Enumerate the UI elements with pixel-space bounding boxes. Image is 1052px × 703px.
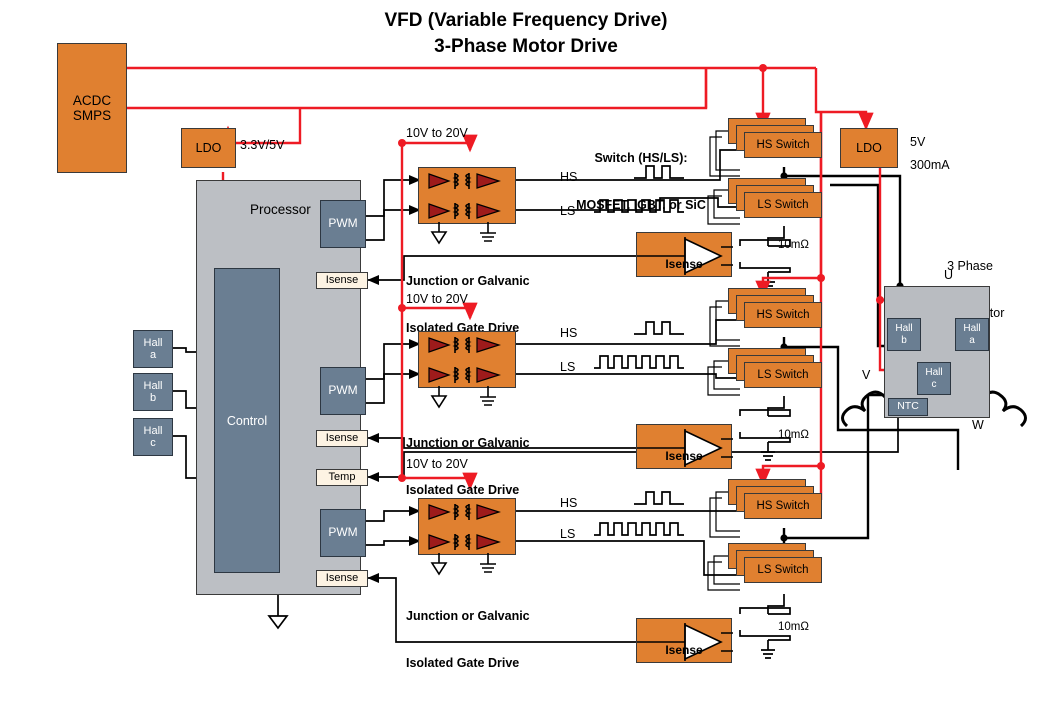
ldo-right-voltage-label: 5V [910,135,925,151]
motor-hall-c[interactable]: Hall c [917,362,951,395]
control-block[interactable]: Control [214,268,280,573]
title-line-1: VFD (Variable Frequency Drive) [0,8,1052,34]
phase-3-ls-label: LS [560,527,575,543]
motor-hall-a-line2: a [969,335,975,346]
motor-phase-w-label: W [972,418,984,434]
gate-drive-3-rail-label: 10V to 20V [406,457,468,473]
gate-drive-3-block[interactable] [418,498,516,555]
motor-hall-a-line1: Hall [963,323,980,334]
temp-label[interactable]: Temp [316,469,368,486]
gate-drive-1-caption-line1: Junction or Galvanic [406,274,530,290]
switch-note-line2: MOSFET, IGBT, or SiC [551,198,731,214]
ls-switch-stack-1[interactable]: LS Switch [728,178,828,228]
processor-title: Processor [250,202,311,219]
hs-switch-stack-1[interactable]: HS Switch [728,118,828,168]
ldo-left-block[interactable]: LDO [181,128,236,168]
gate-drive-1-rail-label: 10V to 20V [406,126,468,142]
title-line-2: 3-Phase Motor Drive [0,34,1052,60]
isense-block-3-label: Isense [637,643,731,657]
gate-drive-3-grounds [418,553,516,579]
isense-label-2[interactable]: Isense [316,430,368,447]
isense-block-2[interactable]: Isense [636,424,732,469]
hall-input-b-line1: Hall [144,380,163,392]
motor-hall-a[interactable]: Hall a [955,318,989,351]
page-title: VFD (Variable Frequency Drive) 3-Phase M… [0,8,1052,59]
gate-drive-3-caption-line2: Isolated Gate Drive [406,656,530,672]
ldo-left-output-label: 3.3V/5V [240,138,284,154]
motor-title-line1: 3 Phase [900,259,1040,275]
isense-label-1[interactable]: Isense [316,272,368,289]
hall-input-a-line2: a [150,349,156,361]
ldo-right-current-label: 300mA [910,158,950,174]
ls-switch-stack-3-top[interactable]: LS Switch [744,557,822,583]
isense-3-opamp [637,619,733,664]
isense-block-1[interactable]: Isense [636,232,732,277]
switch-note-line1: Switch (HS/LS): [551,151,731,167]
phase-3-hs-label: HS [560,496,577,512]
isense-1-opamp [637,233,733,278]
ls-switch-stack-2[interactable]: LS Switch [728,348,828,398]
pwm-block-2[interactable]: PWM [320,367,366,415]
hall-input-b[interactable]: Hall b [133,373,173,411]
gate-drive-3-caption-line1: Junction or Galvanic [406,609,530,625]
motor-ntc[interactable]: NTC [888,398,928,416]
motor-hall-b-line2: b [901,335,907,346]
hall-input-a[interactable]: Hall a [133,330,173,368]
isense-label-3[interactable]: Isense [316,570,368,587]
gate-drive-1-block[interactable] [418,167,516,224]
motor-hall-b[interactable]: Hall b [887,318,921,351]
hall-input-b-line2: b [150,392,156,404]
ldo-right-block[interactable]: LDO [840,128,898,168]
vfd-block-diagram: VFD (Variable Frequency Drive) 3-Phase M… [0,0,1052,680]
phase-2-hs-label: HS [560,326,577,342]
gate-drive-2-rail-label: 10V to 20V [406,292,468,308]
isense-block-1-label: Isense [637,257,731,271]
isense-block-3[interactable]: Isense [636,618,732,663]
hall-input-a-line1: Hall [144,337,163,349]
switch-type-note: Switch (HS/LS): MOSFET, IGBT, or SiC [551,120,731,245]
ls-switch-stack-1-top[interactable]: LS Switch [744,192,822,218]
acdc-smps-block[interactable]: ACDC SMPS [57,43,127,173]
hs-switch-stack-1-top[interactable]: HS Switch [744,132,822,158]
isense-2-opamp [637,425,733,470]
gate-drive-2-block[interactable] [418,331,516,388]
phase-2-ls-label: LS [560,360,575,376]
pwm-block-1[interactable]: PWM [320,200,366,248]
ls-switch-stack-3[interactable]: LS Switch [728,543,828,593]
shunt-label-2: 10mΩ [778,428,809,442]
gate-drive-2-internals [419,332,517,389]
isense-block-2-label: Isense [637,449,731,463]
hall-input-c-line2: c [150,437,156,449]
motor-hall-c-line1: Hall [925,367,942,378]
ls-switch-stack-2-top[interactable]: LS Switch [744,362,822,388]
motor-hall-c-line2: c [932,379,937,390]
shunt-label-1: 10mΩ [778,238,809,252]
hall-input-c[interactable]: Hall c [133,418,173,456]
gate-drive-2-caption-line1: Junction or Galvanic [406,436,530,452]
hall-input-c-line1: Hall [144,425,163,437]
hs-switch-stack-2[interactable]: HS Switch [728,288,828,338]
motor-hall-b-line1: Hall [895,323,912,334]
gate-drive-1-internals [419,168,517,225]
hs-switch-stack-3-top[interactable]: HS Switch [744,493,822,519]
gate-drive-3-internals [419,499,517,556]
motor-phase-u-label: U [944,268,953,284]
hs-switch-stack-3[interactable]: HS Switch [728,479,828,529]
shunt-label-3: 10mΩ [778,620,809,634]
pwm-block-3[interactable]: PWM [320,509,366,557]
gate-drive-2-caption-line2: Isolated Gate Drive [406,483,530,499]
motor-phase-v-label: V [862,368,870,384]
gate-drive-3-caption: Junction or Galvanic Isolated Gate Drive [406,578,530,703]
hs-switch-stack-2-top[interactable]: HS Switch [744,302,822,328]
